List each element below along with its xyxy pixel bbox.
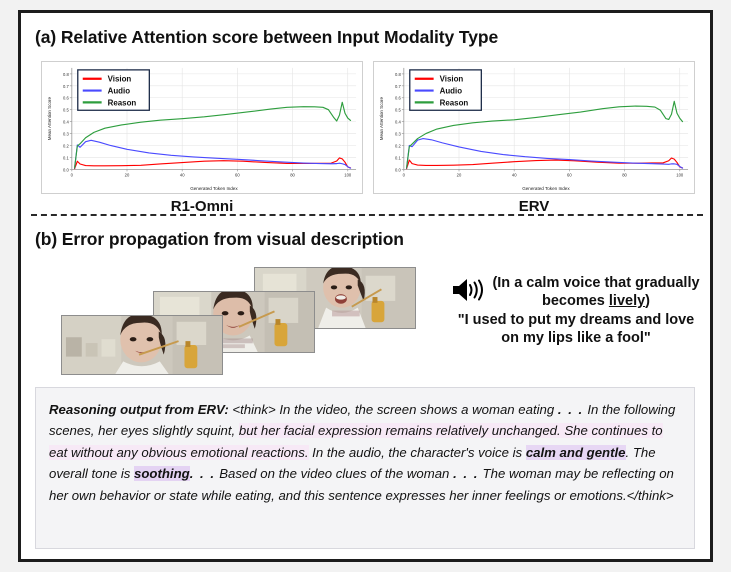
figure-panel: (a) Relative Attention score between Inp… bbox=[18, 10, 713, 562]
svg-text:0.5: 0.5 bbox=[63, 108, 69, 113]
chart-erv-caption: ERV bbox=[373, 198, 695, 215]
reasoning-ellipsis-1: . . . bbox=[558, 402, 584, 417]
svg-text:0.0: 0.0 bbox=[395, 167, 401, 172]
svg-text:0.1: 0.1 bbox=[63, 155, 69, 160]
svg-text:Generated Token Index: Generated Token Index bbox=[190, 186, 238, 191]
svg-text:Mean Attention Score: Mean Attention Score bbox=[379, 97, 384, 141]
audio-style-pre: (In a calm voice that gradually becomes bbox=[492, 275, 699, 309]
speaker-icon bbox=[451, 277, 485, 308]
chart-r1omni-svg: 0.00.10.20.30.40.50.60.70.8020406080100G… bbox=[42, 62, 362, 193]
svg-text:0.3: 0.3 bbox=[63, 132, 69, 137]
svg-text:0.4: 0.4 bbox=[395, 120, 401, 125]
reasoning-ellipsis-2: . . . bbox=[190, 466, 216, 481]
reasoning-seg-1: <think> In the video, the screen shows a… bbox=[229, 402, 558, 417]
svg-text:0.3: 0.3 bbox=[395, 132, 401, 137]
chart-r1omni-caption: R1-Omni bbox=[41, 198, 363, 215]
svg-text:0.2: 0.2 bbox=[63, 143, 69, 148]
chart-erv: 0.00.10.20.30.40.50.60.70.8020406080100G… bbox=[373, 61, 695, 194]
section-a-title: (a) Relative Attention score between Inp… bbox=[35, 27, 498, 48]
svg-text:0.5: 0.5 bbox=[395, 108, 401, 113]
video-frame-1 bbox=[61, 315, 223, 375]
svg-text:0.2: 0.2 bbox=[395, 143, 401, 148]
svg-text:Reason: Reason bbox=[108, 98, 137, 107]
chart-r1omni: 0.00.10.20.30.40.50.60.70.8020406080100G… bbox=[41, 61, 363, 194]
svg-text:40: 40 bbox=[512, 172, 517, 177]
audio-caption-block: (In a calm voice that gradually becomes … bbox=[451, 275, 701, 348]
reasoning-label: Reasoning output from ERV: bbox=[49, 402, 229, 417]
svg-text:Audio: Audio bbox=[440, 87, 463, 96]
video-frame-strip bbox=[61, 265, 421, 375]
section-b-title: (b) Error propagation from visual descri… bbox=[35, 229, 404, 250]
svg-text:0.4: 0.4 bbox=[63, 120, 69, 125]
svg-text:Reason: Reason bbox=[440, 98, 469, 107]
svg-text:100: 100 bbox=[676, 172, 684, 177]
audio-quote: "I used to put my dreams and love on my … bbox=[451, 312, 701, 347]
speaker-row: (In a calm voice that gradually becomes … bbox=[451, 275, 701, 310]
svg-text:60: 60 bbox=[235, 172, 240, 177]
svg-text:0.0: 0.0 bbox=[63, 167, 69, 172]
section-divider bbox=[31, 214, 703, 216]
reasoning-seg-3: In the audio, the character's voice is bbox=[309, 445, 526, 460]
svg-text:0.8: 0.8 bbox=[63, 72, 69, 77]
svg-text:0.7: 0.7 bbox=[395, 84, 401, 89]
svg-text:Audio: Audio bbox=[108, 87, 131, 96]
svg-text:Vision: Vision bbox=[440, 75, 464, 84]
reasoning-highlight-calm-gentle: calm and gentle bbox=[526, 445, 626, 460]
reasoning-highlight-soothing: soothing bbox=[134, 466, 190, 481]
svg-text:100: 100 bbox=[344, 172, 352, 177]
audio-style-note: (In a calm voice that gradually becomes … bbox=[491, 275, 701, 310]
svg-text:Vision: Vision bbox=[108, 75, 132, 84]
svg-text:0.1: 0.1 bbox=[395, 155, 401, 160]
reasoning-seg-5: Based on the video clues of the woman bbox=[216, 466, 454, 481]
reasoning-ellipsis-3: . . . bbox=[453, 466, 479, 481]
svg-text:80: 80 bbox=[290, 172, 295, 177]
svg-text:Mean Attention Score: Mean Attention Score bbox=[47, 97, 52, 141]
svg-text:80: 80 bbox=[622, 172, 627, 177]
svg-text:20: 20 bbox=[125, 172, 130, 177]
chart-erv-svg: 0.00.10.20.30.40.50.60.70.8020406080100G… bbox=[374, 62, 694, 193]
svg-text:Generated Token Index: Generated Token Index bbox=[522, 186, 570, 191]
svg-text:0.6: 0.6 bbox=[395, 96, 401, 101]
reasoning-output-box: Reasoning output from ERV: <think> In th… bbox=[35, 387, 695, 549]
svg-text:0.8: 0.8 bbox=[395, 72, 401, 77]
svg-text:40: 40 bbox=[180, 172, 185, 177]
audio-style-emphasis: lively bbox=[609, 293, 645, 309]
svg-text:60: 60 bbox=[567, 172, 572, 177]
audio-style-post: ) bbox=[645, 293, 650, 309]
svg-text:0.7: 0.7 bbox=[63, 84, 69, 89]
svg-text:20: 20 bbox=[457, 172, 462, 177]
svg-text:0.6: 0.6 bbox=[63, 96, 69, 101]
